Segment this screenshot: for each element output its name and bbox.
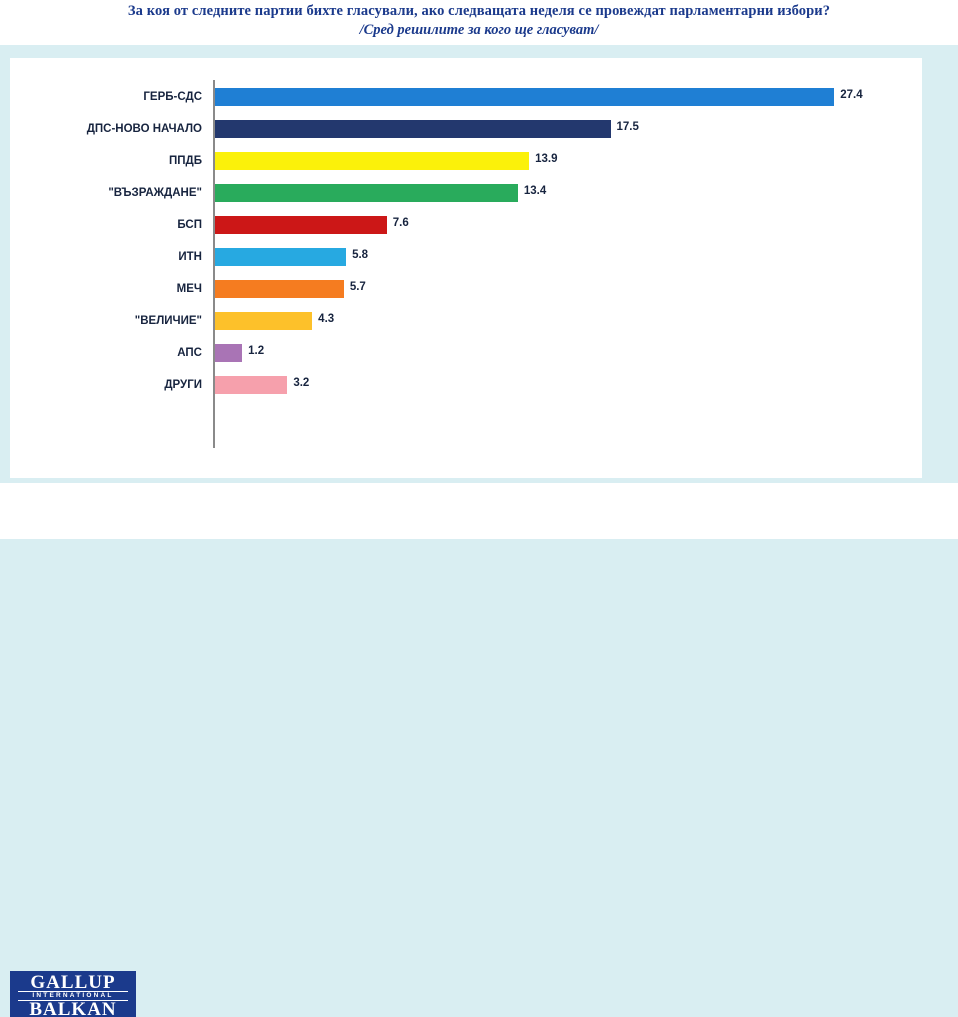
bar-wrapper (215, 338, 242, 368)
bar-category-label: АПС (10, 338, 202, 368)
bar (215, 88, 834, 106)
bar (215, 312, 312, 330)
bar-row: "ВЪЗРАЖДАНЕ"13.4 (10, 178, 922, 208)
page-title: За коя от следните партии бихте гласувал… (0, 3, 958, 20)
bar (215, 344, 242, 362)
page-subtitle: /Сред решилите за кого ще гласуват/ (0, 22, 958, 39)
bar-category-label: "ВЪЗРАЖДАНЕ" (10, 178, 202, 208)
bar (215, 184, 518, 202)
logo-bottom-text: BALKAN (10, 999, 136, 1017)
logo-band: GALLUP INTERNATIONAL BALKAN (0, 483, 958, 539)
bar-row: АПС1.2 (10, 338, 922, 368)
bar-value-label: 13.9 (535, 153, 557, 165)
bar (215, 280, 344, 298)
bar-row: БСП7.6 (10, 210, 922, 240)
bar-wrapper (215, 82, 834, 112)
bar (215, 376, 287, 394)
bar-wrapper (215, 274, 344, 304)
bar-value-label: 4.3 (318, 313, 334, 325)
bar-wrapper (215, 146, 529, 176)
gallup-international-balkan-logo: GALLUP INTERNATIONAL BALKAN (10, 971, 136, 1017)
bar-category-label: ДРУГИ (10, 370, 202, 400)
bar-value-label: 7.6 (393, 217, 409, 229)
bar (215, 152, 529, 170)
bar (215, 248, 346, 266)
bar (215, 216, 387, 234)
bar-row: ППДБ13.9 (10, 146, 922, 176)
bar-category-label: "ВЕЛИЧИЕ" (10, 306, 202, 336)
bar-category-label: ППДБ (10, 146, 202, 176)
bar-value-label: 3.2 (293, 377, 309, 389)
bar-category-label: БСП (10, 210, 202, 240)
bar-row: "ВЕЛИЧИЕ"4.3 (10, 306, 922, 336)
bar-row: МЕЧ5.7 (10, 274, 922, 304)
bar (215, 120, 611, 138)
bar-value-label: 13.4 (524, 185, 546, 197)
bar-row: ИТН5.8 (10, 242, 922, 272)
bar-wrapper (215, 178, 518, 208)
bar-category-label: МЕЧ (10, 274, 202, 304)
bar-category-label: ДПС-НОВО НАЧАЛО (10, 114, 202, 144)
bar-value-label: 5.8 (352, 249, 368, 261)
bar-chart-plot: ГЕРБ-СДС27.4ДПС-НОВО НАЧАЛО17.5ППДБ13.9"… (10, 58, 922, 478)
bar-value-label: 1.2 (248, 345, 264, 357)
chart-panel: ГЕРБ-СДС27.4ДПС-НОВО НАЧАЛО17.5ППДБ13.9"… (10, 58, 922, 478)
bar-row: ДРУГИ3.2 (10, 370, 922, 400)
logo-middle-text: INTERNATIONAL (10, 992, 136, 999)
title-band: За коя от следните партии бихте гласувал… (0, 0, 958, 45)
bar-wrapper (215, 210, 387, 240)
chart-screenshot: За коя от следните партии бихте гласувал… (0, 0, 958, 539)
bar-wrapper (215, 306, 312, 336)
bar-value-label: 27.4 (840, 89, 862, 101)
bar-row: ДПС-НОВО НАЧАЛО17.5 (10, 114, 922, 144)
bar-row: ГЕРБ-СДС27.4 (10, 82, 922, 112)
bar-wrapper (215, 114, 611, 144)
bar-value-label: 17.5 (617, 121, 639, 133)
bar-wrapper (215, 242, 346, 272)
bar-category-label: ИТН (10, 242, 202, 272)
bar-value-label: 5.7 (350, 281, 366, 293)
bar-wrapper (215, 370, 287, 400)
bar-category-label: ГЕРБ-СДС (10, 82, 202, 112)
